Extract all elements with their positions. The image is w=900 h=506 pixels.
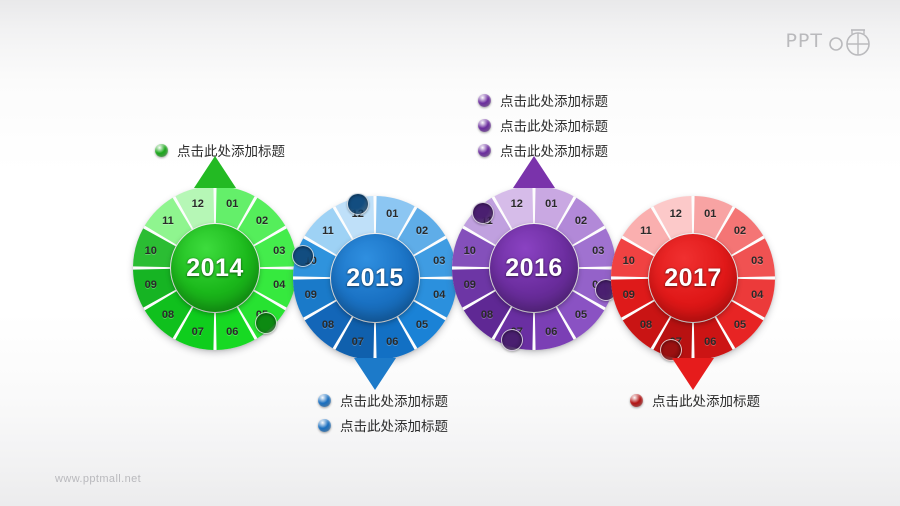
callout-row[interactable]: 点击此处添加标题 xyxy=(478,90,608,110)
wheel-marker-07[interactable] xyxy=(501,329,523,351)
slide-canvas: PPT www.pptmall.net 01020304050607080910… xyxy=(0,0,900,506)
callout-text: 点击此处添加标题 xyxy=(500,140,608,160)
callout-bullet-icon xyxy=(318,419,331,432)
year-wheel-2015[interactable]: 0102030405060708091011122015 xyxy=(293,196,457,360)
callout-text: 点击此处添加标题 xyxy=(340,415,448,435)
wheel-year-label: 2016 xyxy=(505,254,563,283)
logo-mark-icon xyxy=(828,26,874,56)
callout-bullet-icon xyxy=(630,394,643,407)
callout-text: 点击此处添加标题 xyxy=(500,115,608,135)
callout-bullet-icon xyxy=(155,144,168,157)
wheel-marker-10[interactable] xyxy=(292,245,314,267)
footer-url: www.pptmall.net xyxy=(55,473,141,485)
callout-row[interactable]: 点击此处添加标题 xyxy=(478,140,608,160)
callout-bullet-icon xyxy=(478,144,491,157)
wheel-year-label: 2014 xyxy=(186,254,244,283)
wheel-hub[interactable]: 2014 xyxy=(171,224,259,312)
purple-callout: 点击此处添加标题点击此处添加标题点击此处添加标题 xyxy=(478,90,608,165)
callout-text: 点击此处添加标题 xyxy=(340,390,448,410)
callout-text: 点击此处添加标题 xyxy=(500,90,608,110)
wheel-year-label: 2017 xyxy=(664,264,722,293)
wheel-marker-05[interactable] xyxy=(255,312,277,334)
wheel-pointer-arrow-down xyxy=(354,358,396,390)
green-callout: 点击此处添加标题 xyxy=(155,140,285,165)
pptmall-logo: PPT xyxy=(785,26,874,56)
wheel-pointer-arrow-down xyxy=(672,358,714,390)
callout-bullet-icon xyxy=(478,94,491,107)
callout-row[interactable]: 点击此处添加标题 xyxy=(318,390,448,410)
callout-bullet-icon xyxy=(318,394,331,407)
callout-row[interactable]: 点击此处添加标题 xyxy=(630,390,760,410)
callout-text: 点击此处添加标题 xyxy=(177,140,285,160)
callout-text: 点击此处添加标题 xyxy=(652,390,760,410)
callout-bullet-icon xyxy=(478,119,491,132)
wheel-marker-12[interactable] xyxy=(347,193,369,215)
wheel-hub[interactable]: 2016 xyxy=(490,224,578,312)
year-wheel-2016[interactable]: 0102030405060708091011122016 xyxy=(452,186,616,350)
wheel-marker-11[interactable] xyxy=(472,202,494,224)
year-wheel-2014[interactable]: 0102030405060708091011122014 xyxy=(133,186,297,350)
callout-row[interactable]: 点击此处添加标题 xyxy=(318,415,448,435)
red-callout: 点击此处添加标题 xyxy=(630,390,760,415)
wheel-hub[interactable]: 2015 xyxy=(331,234,419,322)
wheel-hub[interactable]: 2017 xyxy=(649,234,737,322)
wheel-year-label: 2015 xyxy=(346,264,404,293)
callout-row[interactable]: 点击此处添加标题 xyxy=(155,140,285,160)
logo-text: PPT xyxy=(785,30,823,52)
year-wheel-2017[interactable]: 0102030405060708091011122017 xyxy=(611,196,775,360)
callout-row[interactable]: 点击此处添加标题 xyxy=(478,115,608,135)
blue-callout: 点击此处添加标题点击此处添加标题 xyxy=(318,390,448,440)
